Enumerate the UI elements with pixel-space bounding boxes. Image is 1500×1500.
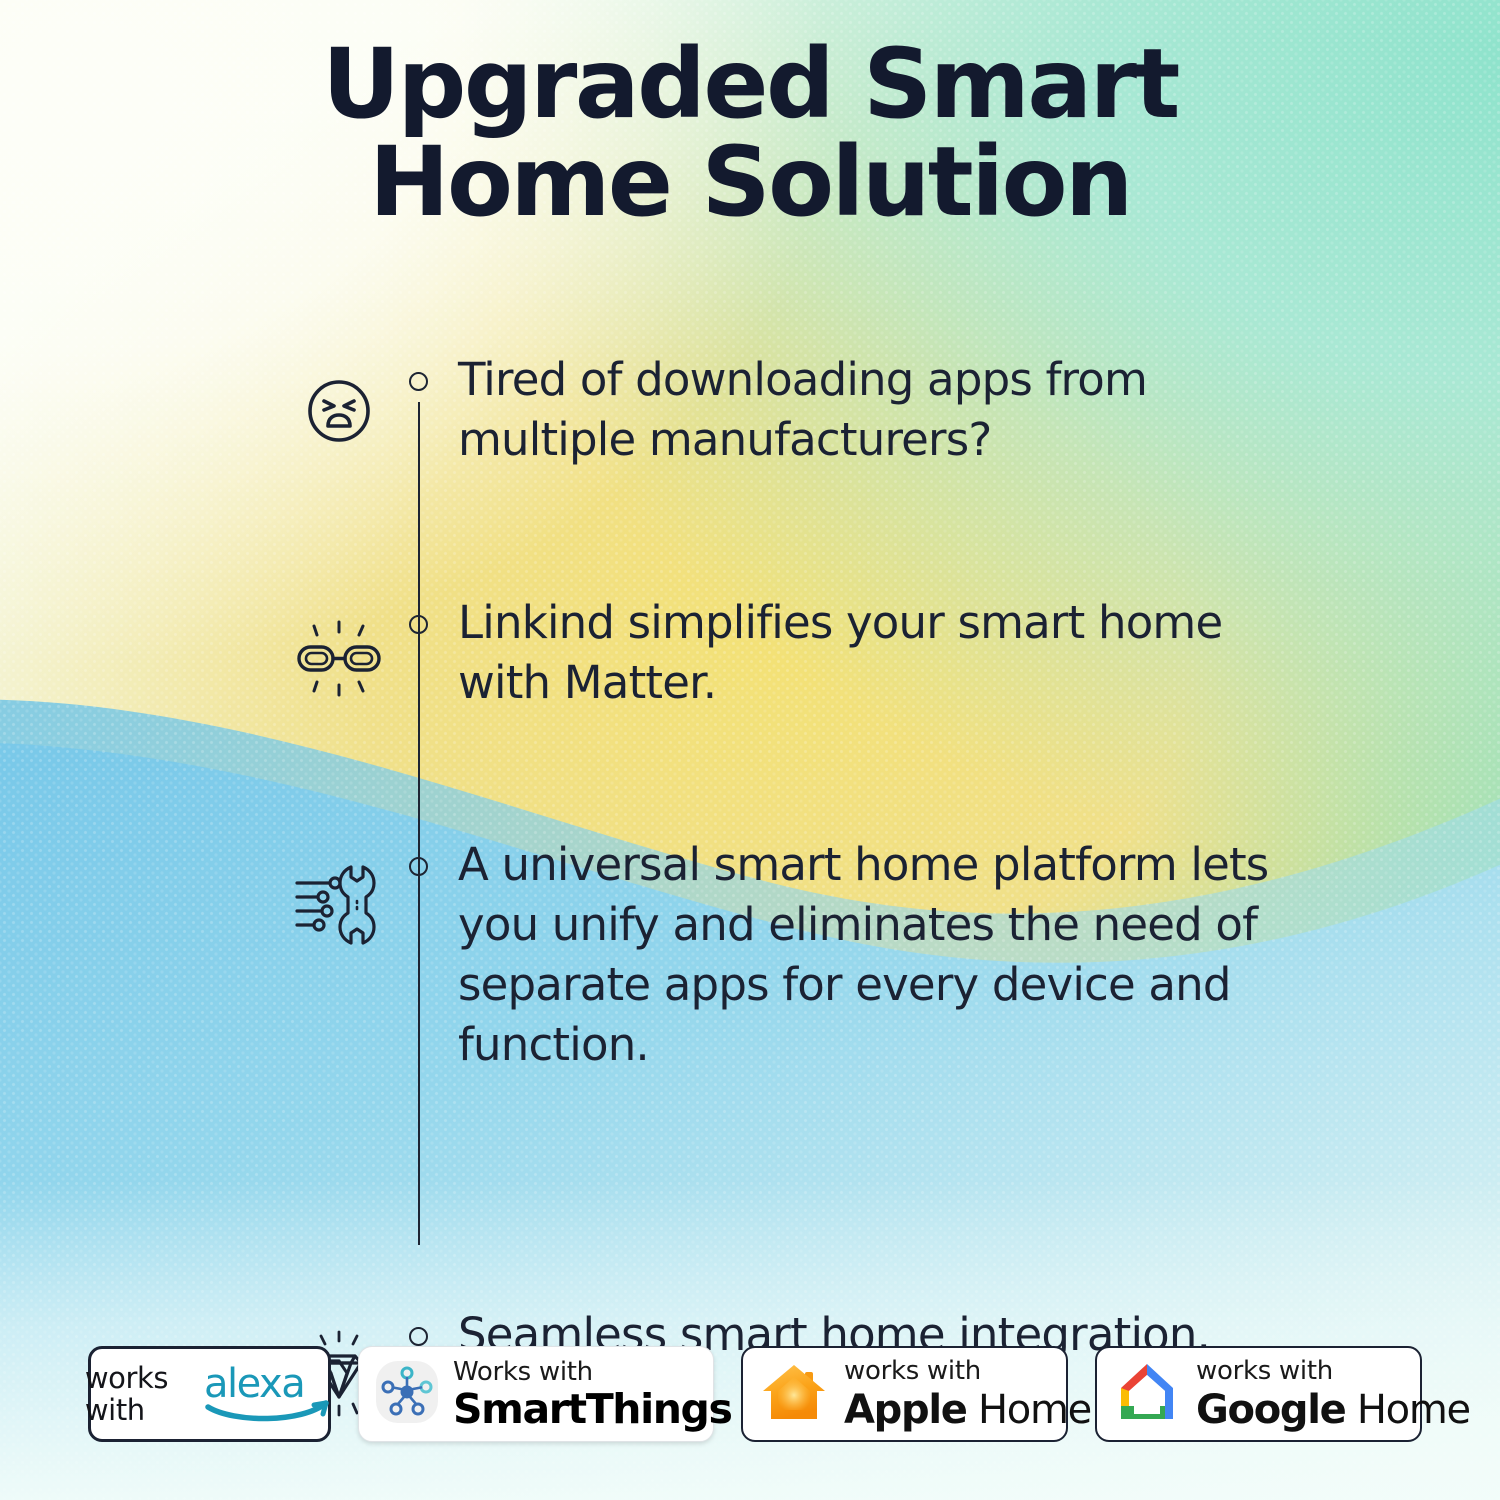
alexa-prefix-line-1: works — [85, 1362, 168, 1394]
alexa-prefix-line-2: with — [85, 1394, 168, 1426]
badge-works-with-alexa[interactable]: works with alexa — [88, 1346, 331, 1442]
svg-text:alexa: alexa — [204, 1361, 304, 1407]
google-home-brand: Google Home — [1196, 1388, 1470, 1432]
timeline-node — [400, 857, 436, 876]
apple-home-house-icon — [760, 1360, 828, 1429]
google-home-prefix: works with — [1196, 1356, 1470, 1387]
page-title: Upgraded Smart Home Solution — [0, 36, 1500, 232]
smartthings-prefix: Works with — [453, 1357, 732, 1388]
smartthings-text: Works with SmartThings — [453, 1357, 732, 1432]
badge-works-with-apple-home[interactable]: works with Apple Home — [741, 1346, 1068, 1442]
smartthings-molecule-icon — [375, 1360, 439, 1429]
timeline-item-text: Linkind simplifies your smart home with … — [458, 593, 1278, 713]
chain-link-icon — [278, 615, 400, 703]
google-home-brand-bold: Google — [1196, 1387, 1345, 1433]
apple-home-brand: Apple Home — [844, 1388, 1091, 1432]
badge-works-with-google-home[interactable]: works with Google Home — [1095, 1346, 1422, 1442]
timeline-connector-line — [418, 402, 420, 1245]
apple-home-text: works with Apple Home — [844, 1356, 1091, 1431]
timeline-node — [400, 615, 436, 634]
smartthings-brand: SmartThings — [453, 1387, 732, 1431]
timeline-item: Linkind simplifies your smart home with … — [278, 615, 1278, 713]
timeline-item: A universal smart home platform lets you… — [278, 857, 1278, 1074]
apple-home-brand-light: Home — [967, 1387, 1091, 1433]
feature-timeline: Tired of downloading apps from multiple … — [278, 372, 1278, 1419]
apple-home-brand-bold: Apple — [844, 1387, 967, 1433]
page-title-line-1: Upgraded Smart — [322, 28, 1178, 140]
settings-wrench-icon — [278, 857, 400, 953]
badge-works-with-smartthings[interactable]: Works with SmartThings — [358, 1346, 714, 1442]
google-home-text: works with Google Home — [1196, 1356, 1470, 1431]
frustrated-face-icon — [278, 372, 400, 450]
timeline-item-text: Tired of downloading apps from multiple … — [458, 350, 1278, 470]
timeline-node — [400, 1327, 436, 1346]
promo-graphic: Upgraded Smart Home Solution Tired of do… — [0, 0, 1500, 1500]
timeline-item: Tired of downloading apps from multiple … — [278, 372, 1278, 470]
google-home-brand-light: Home — [1345, 1387, 1469, 1433]
alexa-prefix-text: works with — [85, 1362, 185, 1427]
amazon-alexa-logo: alexa — [185, 1361, 334, 1428]
timeline-node — [400, 372, 436, 391]
apple-home-prefix: works with — [844, 1356, 1091, 1387]
google-home-house-icon — [1116, 1361, 1180, 1428]
compatibility-badges: works with alexa — [88, 1346, 1422, 1442]
timeline-item-text: A universal smart home platform lets you… — [458, 835, 1278, 1074]
page-title-line-2: Home Solution — [180, 134, 1320, 232]
